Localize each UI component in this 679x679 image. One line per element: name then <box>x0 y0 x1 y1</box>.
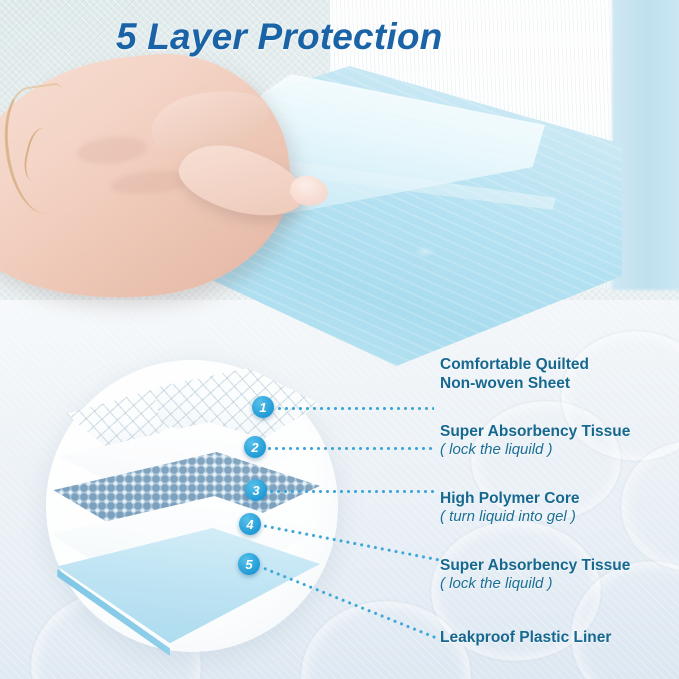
callout-5: Leakproof Plastic Liner <box>440 628 611 647</box>
callout-4: Super Absorbency Tissue ( lock the liqui… <box>440 556 630 594</box>
callout-3-line-1: High Polymer Core <box>440 489 580 508</box>
callout-4-line-1: Super Absorbency Tissue <box>440 556 630 575</box>
product-infographic: 1 2 3 4 5 5 Layer Protection Comfortable… <box>0 0 679 679</box>
callout-4-note: ( lock the liquild ) <box>440 575 630 594</box>
background-right-blue-band <box>612 0 679 290</box>
callout-2: Super Absorbency Tissue ( lock the liqui… <box>440 422 630 460</box>
callout-3: High Polymer Core ( turn liquid into gel… <box>440 489 580 527</box>
layer-badge-4[interactable]: 4 <box>239 513 261 535</box>
leader-line-1 <box>276 407 434 410</box>
callout-1-line-2: Non-woven Sheet <box>440 374 589 393</box>
callout-3-note: ( turn liquid into gel ) <box>440 508 580 527</box>
callout-2-note: ( lock the liquild ) <box>440 441 630 460</box>
callout-1-line-1: Comfortable Quilted <box>440 355 589 374</box>
page-title: 5 Layer Protection <box>116 16 442 58</box>
leader-line-3 <box>268 490 434 493</box>
exploded-layer-stack <box>46 360 338 652</box>
layer-badge-3[interactable]: 3 <box>245 479 267 501</box>
callout-1: Comfortable Quilted Non-woven Sheet <box>440 355 589 394</box>
layer-badge-5[interactable]: 5 <box>238 553 260 575</box>
layer-badge-1[interactable]: 1 <box>252 396 274 418</box>
callout-5-line-1: Leakproof Plastic Liner <box>440 628 611 647</box>
callout-2-line-1: Super Absorbency Tissue <box>440 422 630 441</box>
leader-line-2 <box>266 447 434 450</box>
layer-badge-2[interactable]: 2 <box>244 436 266 458</box>
